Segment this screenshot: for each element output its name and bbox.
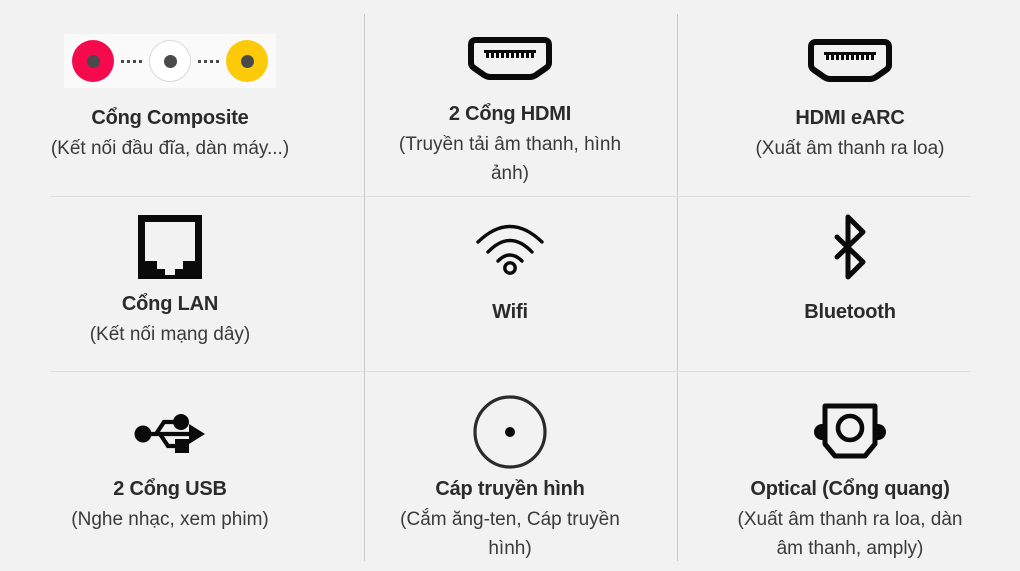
rca-red-pin (87, 55, 100, 68)
feature-cell-hdmi-earc: HDMI eARC (Xuất âm thanh ra loa) (680, 0, 1020, 188)
feature-subtitle: (Nghe nhạc, xem phim) (71, 505, 268, 534)
feature-cell-bluetooth: Bluetooth (680, 188, 1020, 371)
optical-toslink-port-icon (810, 401, 890, 463)
optical-icon-wrap (810, 393, 890, 471)
rca-red-jack (72, 40, 114, 82)
feature-cell-optical: Optical (Cổng quang) (Xuất âm thanh ra l… (680, 371, 1020, 571)
wifi-icon (474, 218, 546, 276)
usb-icon (133, 406, 207, 458)
bluetooth-icon (828, 214, 872, 280)
feature-subtitle: (Truyền tải âm thanh, hình ảnh) (383, 130, 638, 188)
feature-cell-composite: Cổng Composite (Kết nối đầu đĩa, dàn máy… (0, 0, 340, 188)
lan-rj45-port-icon (136, 213, 204, 281)
rca-yellow-pin (241, 55, 254, 68)
bluetooth-icon-wrap (828, 208, 872, 286)
feature-cell-lan: Cổng LAN (Kết nối mạng dây) (0, 188, 340, 371)
feature-subtitle: (Kết nối đầu đĩa, dàn máy...) (51, 134, 289, 163)
connectivity-feature-grid: Cổng Composite (Kết nối đầu đĩa, dàn máy… (0, 0, 1020, 571)
feature-title: Cáp truyền hình (435, 475, 584, 503)
feature-title: HDMI eARC (795, 104, 904, 132)
feature-title: 2 Cổng USB (113, 475, 227, 503)
composite-dots-left (114, 60, 149, 63)
feature-subtitle: (Cắm ăng-ten, Cáp truyền hình) (383, 505, 638, 563)
composite-icon-wrap (64, 22, 276, 100)
feature-title: Bluetooth (804, 298, 896, 326)
feature-subtitle: (Xuất âm thanh ra loa) (755, 134, 944, 163)
composite-dots-right (191, 60, 226, 63)
feature-subtitle: (Xuất âm thanh ra loa, dàn âm thanh, amp… (723, 505, 978, 563)
feature-cell-coaxial: Cáp truyền hình (Cắm ăng-ten, Cáp truyền… (340, 371, 680, 571)
rca-yellow-jack (226, 40, 268, 82)
composite-rca-icon (64, 34, 276, 88)
lan-icon-wrap (136, 208, 204, 286)
rca-white-jack (149, 40, 191, 82)
feature-title: Cổng LAN (122, 290, 218, 318)
coaxial-icon-wrap (471, 393, 549, 471)
hdmi-port-icon (466, 37, 554, 81)
hdmi-earc-icon-wrap (806, 22, 894, 100)
feature-cell-hdmi: 2 Cổng HDMI (Truyền tải âm thanh, hình ả… (340, 0, 680, 188)
feature-title: Wifi (492, 298, 528, 326)
hdmi-icon-wrap (466, 22, 554, 96)
coaxial-antenna-icon (471, 393, 549, 471)
usb-icon-wrap (133, 393, 207, 471)
feature-cell-wifi: Wifi (340, 188, 680, 371)
rca-white-pin (164, 55, 177, 68)
feature-cell-usb: 2 Cổng USB (Nghe nhạc, xem phim) (0, 371, 340, 571)
feature-title: Optical (Cổng quang) (750, 475, 949, 503)
feature-title: Cổng Composite (91, 104, 248, 132)
hdmi-earc-port-icon (806, 39, 894, 83)
feature-subtitle: (Kết nối mạng dây) (90, 320, 251, 349)
feature-title: 2 Cổng HDMI (449, 100, 571, 128)
wifi-icon-wrap (474, 208, 546, 286)
